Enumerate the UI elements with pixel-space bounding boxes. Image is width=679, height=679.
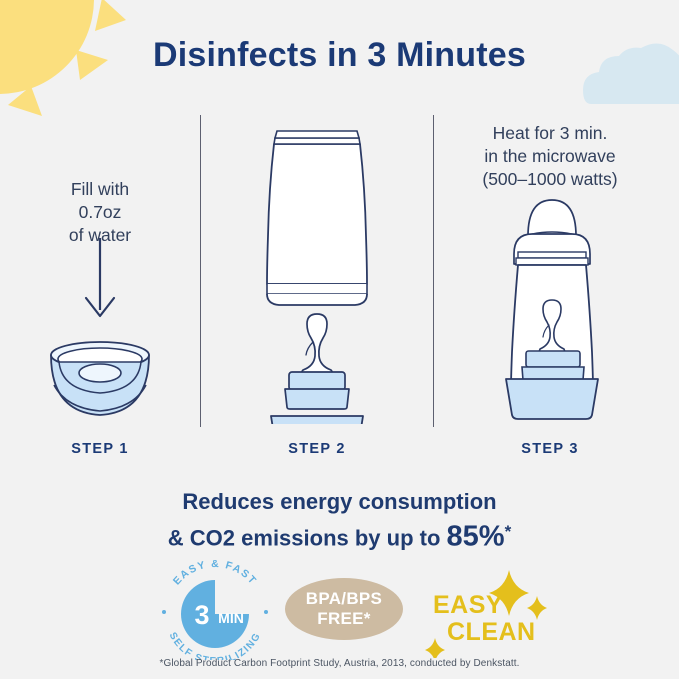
step2-label: STEP 2: [247, 441, 387, 457]
sun-rays-icon: [0, 0, 180, 180]
easy-clean-badge: EASY CLEAN: [425, 566, 555, 658]
column-divider-1: [200, 115, 201, 427]
step3-caption: Heat for 3 min. in the microwave (500–10…: [452, 122, 648, 191]
easy-clean-line-1: EASY: [433, 591, 503, 619]
bottle-parts-icon: [255, 118, 379, 424]
claim-line-2: & CO2 emissions by up to 85%*: [0, 517, 679, 553]
page-title: Disinfects in 3 Minutes: [0, 36, 679, 75]
easy-clean-text: EASY CLEAN: [433, 592, 551, 646]
step1-label: STEP 1: [30, 441, 170, 457]
column-divider-2: [433, 115, 434, 427]
bpa-bps-free-badge: BPA/BPS FREE*: [285, 578, 403, 640]
bpa-line-2: FREE*: [317, 609, 370, 629]
claim-percentage: 85%: [447, 520, 505, 552]
step3-caption-line3: (500–1000 watts): [452, 168, 648, 191]
bowl-with-water-icon: [48, 338, 152, 418]
energy-claim: Reduces energy consumption & CO2 emissio…: [0, 487, 679, 553]
footnote: *Global Product Carbon Footprint Study, …: [0, 658, 679, 669]
three-min-self-sterilizing-badge: EASY & FAST SELF STERILIZING 3 MIN: [152, 560, 278, 660]
step3-caption-line1: Heat for 3 min.: [452, 122, 648, 145]
down-arrow-icon: [60, 236, 140, 324]
step1-caption-line2: 0.7oz: [20, 201, 180, 224]
claim-asterisk: *: [505, 522, 512, 541]
step3-label: STEP 3: [480, 441, 620, 457]
claim-line-2-prefix: & CO2 emissions by up to: [168, 525, 447, 550]
step3-caption-line2: in the microwave: [452, 145, 648, 168]
claim-line-1: Reduces energy consumption: [0, 487, 679, 517]
infographic-canvas: Disinfects in 3 Minutes Fill with 0.7oz …: [0, 0, 679, 679]
bpa-line-1: BPA/BPS: [306, 589, 382, 609]
step1-caption-line1: Fill with: [20, 178, 180, 201]
badge-center-number: 3: [194, 600, 209, 630]
badge-center-unit: MIN: [218, 610, 244, 626]
easy-clean-line-2: CLEAN: [433, 619, 551, 646]
assembled-bottle-icon: [488, 192, 616, 424]
